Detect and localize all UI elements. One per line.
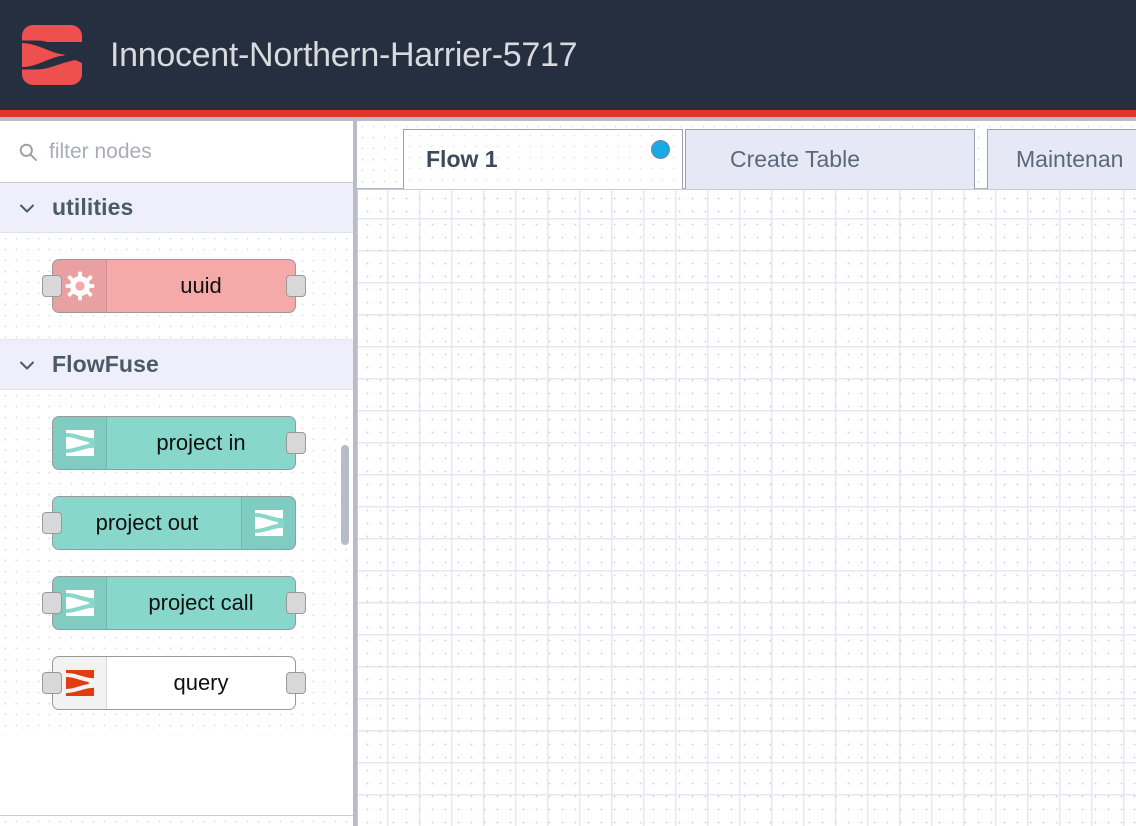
node-input-port[interactable] bbox=[42, 275, 62, 297]
tab-flow-1[interactable]: Flow 1 bbox=[403, 129, 683, 189]
flowfuse-mark-icon bbox=[53, 417, 107, 469]
palette-node-label: project call bbox=[107, 590, 295, 616]
palette-scrollbar[interactable] bbox=[341, 445, 349, 545]
flow-canvas[interactable] bbox=[357, 189, 1136, 826]
palette-node-project-in[interactable]: project in bbox=[52, 416, 296, 470]
palette-category-body-utilities: uuid bbox=[0, 233, 353, 340]
canvas-left-border bbox=[357, 189, 358, 826]
palette-category-label: FlowFuse bbox=[52, 351, 159, 378]
header-accent-bar bbox=[0, 110, 1136, 117]
palette-node-project-out[interactable]: project out bbox=[52, 496, 296, 550]
palette-node-uuid[interactable]: uuid bbox=[52, 259, 296, 313]
tab-label: Flow 1 bbox=[426, 146, 498, 173]
flow-tab-bar: Flow 1 Create Table Maintenan bbox=[357, 121, 1136, 189]
tab-create-table[interactable]: Create Table bbox=[685, 129, 975, 189]
palette-node-label: project in bbox=[107, 430, 295, 456]
app-header: Innocent-Northern-Harrier-5717 bbox=[0, 0, 1136, 110]
node-output-port[interactable] bbox=[286, 275, 306, 297]
flow-editor-app: Innocent-Northern-Harrier-5717 utilities bbox=[0, 0, 1136, 826]
tab-label: Maintenan bbox=[1016, 146, 1123, 173]
palette-footer bbox=[0, 816, 353, 826]
node-output-port[interactable] bbox=[286, 592, 306, 614]
tab-status-dot bbox=[651, 140, 670, 159]
chevron-down-icon bbox=[16, 354, 38, 376]
node-output-port[interactable] bbox=[286, 672, 306, 694]
palette-category-flowfuse[interactable]: FlowFuse bbox=[0, 340, 353, 390]
workspace: Flow 1 Create Table Maintenan bbox=[357, 121, 1136, 826]
tab-maintenance[interactable]: Maintenan bbox=[987, 129, 1136, 189]
palette-node-query[interactable]: query bbox=[52, 656, 296, 710]
tab-label: Create Table bbox=[730, 146, 860, 173]
node-input-port[interactable] bbox=[42, 592, 62, 614]
search-input[interactable] bbox=[49, 140, 339, 164]
palette-scroll-region[interactable]: utilities bbox=[0, 183, 353, 815]
app-title: Innocent-Northern-Harrier-5717 bbox=[110, 36, 577, 75]
flowfuse-mark-icon bbox=[241, 497, 295, 549]
palette-search-bar[interactable] bbox=[0, 121, 353, 183]
search-icon bbox=[18, 142, 38, 162]
palette-node-label: uuid bbox=[107, 273, 295, 299]
palette-node-project-call[interactable]: project call bbox=[52, 576, 296, 630]
node-input-port[interactable] bbox=[42, 672, 62, 694]
node-output-port[interactable] bbox=[286, 432, 306, 454]
flowfuse-logo-icon[interactable] bbox=[22, 25, 82, 85]
palette-node-label: query bbox=[107, 670, 295, 696]
palette-node-label: project out bbox=[53, 510, 241, 536]
chevron-down-icon bbox=[16, 197, 38, 219]
node-palette: utilities bbox=[0, 121, 353, 826]
palette-category-body-flowfuse: project in project out bbox=[0, 390, 353, 736]
node-input-port[interactable] bbox=[42, 512, 62, 534]
palette-category-utilities[interactable]: utilities bbox=[0, 183, 353, 233]
palette-category-label: utilities bbox=[52, 194, 133, 221]
canvas-top-border bbox=[357, 189, 1136, 190]
